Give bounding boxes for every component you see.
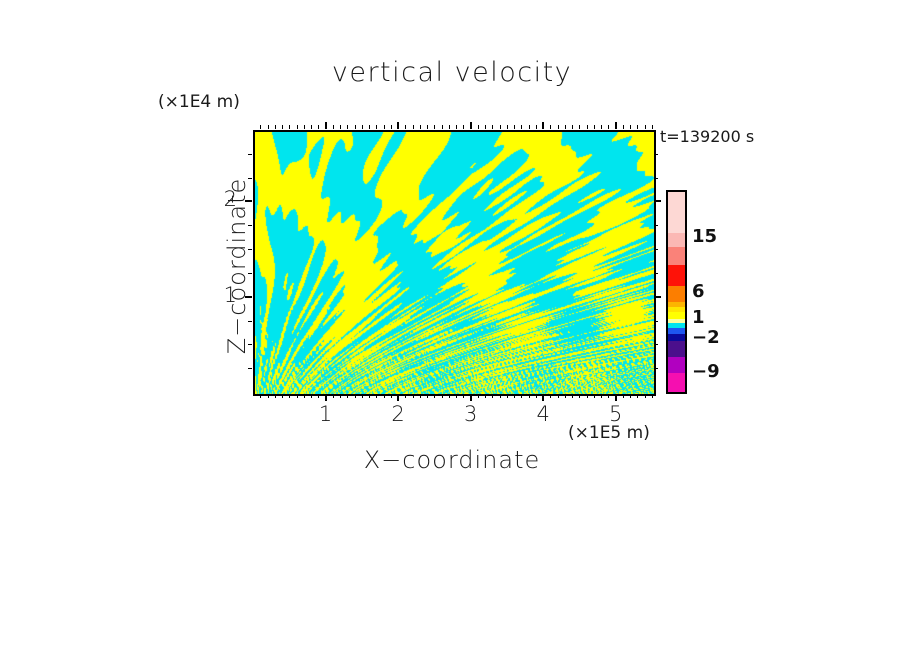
- x-tick-minor: [434, 394, 435, 398]
- x-tick-minor-top: [594, 125, 595, 129]
- x-tick-minor: [507, 394, 508, 398]
- x-tick-minor-top: [282, 125, 283, 129]
- x-tick-major: [325, 394, 327, 401]
- x-tick-minor: [333, 394, 334, 398]
- x-tick-minor-top: [587, 125, 588, 129]
- y-tick-minor-right: [654, 154, 658, 155]
- x-tick-minor: [623, 394, 624, 398]
- x-tick-minor-top: [500, 125, 501, 129]
- x-tick-minor: [637, 394, 638, 398]
- colorbar-band: [668, 247, 685, 265]
- x-tick-minor-top: [456, 125, 457, 129]
- y-tick-minor: [248, 154, 252, 155]
- x-tick-minor-top: [601, 125, 602, 129]
- x-tick-minor-top: [376, 125, 377, 129]
- x-tick-major-top: [542, 122, 544, 129]
- x-tick-minor: [289, 394, 290, 398]
- x-tick-minor-top: [384, 125, 385, 129]
- y-tick-major-right: [654, 200, 661, 202]
- x-tick-major: [542, 394, 544, 401]
- x-tick-minor-top: [304, 125, 305, 129]
- y-axis-unit-label: (×1E4 m): [158, 92, 240, 112]
- x-tick-minor-top: [579, 125, 580, 129]
- x-tick-minor: [630, 394, 631, 398]
- x-tick-minor: [536, 394, 537, 398]
- y-tick-minor-right: [654, 178, 658, 179]
- colorbar-band: [668, 233, 685, 248]
- x-tick-minor: [492, 394, 493, 398]
- x-tick-minor: [297, 394, 298, 398]
- x-tick-minor: [304, 394, 305, 398]
- colorbar-band: [668, 341, 685, 358]
- x-tick-minor: [355, 394, 356, 398]
- x-tick-major-top: [397, 122, 399, 129]
- x-tick-minor-top: [630, 125, 631, 129]
- x-tick-minor-top: [529, 125, 530, 129]
- x-tick-minor: [608, 394, 609, 398]
- x-tick-minor: [485, 394, 486, 398]
- x-axis-unit-label: (×1E5 m): [568, 423, 650, 443]
- y-tick-minor: [248, 273, 252, 274]
- x-tick-minor-top: [558, 125, 559, 129]
- y-tick-minor: [248, 225, 252, 226]
- x-tick-minor: [550, 394, 551, 398]
- page-title: vertical velocity: [0, 57, 904, 88]
- x-tick-minor: [391, 394, 392, 398]
- x-tick-minor: [587, 394, 588, 398]
- x-tick-minor: [275, 394, 276, 398]
- x-tick-minor: [565, 394, 566, 398]
- x-tick-minor-top: [413, 125, 414, 129]
- y-tick-minor-right: [654, 344, 658, 345]
- x-tick-major-top: [470, 122, 472, 129]
- x-tick-minor: [558, 394, 559, 398]
- x-axis-title: X−coordinate: [0, 446, 904, 474]
- y-tick-major: [245, 200, 252, 202]
- x-tick-minor: [478, 394, 479, 398]
- colorbar-band: [668, 265, 685, 287]
- x-tick-minor: [427, 394, 428, 398]
- x-tick-minor-top: [521, 125, 522, 129]
- x-tick-minor-top: [652, 125, 653, 129]
- x-tick-label: 2: [378, 402, 418, 426]
- x-tick-minor: [521, 394, 522, 398]
- x-tick-minor: [282, 394, 283, 398]
- colorbar-tick-label: −9: [692, 361, 720, 382]
- y-tick-minor-right: [654, 225, 658, 226]
- x-tick-minor-top: [565, 125, 566, 129]
- plot-area: [253, 130, 656, 396]
- x-tick-minor: [579, 394, 580, 398]
- colorbar-tick-label: −2: [692, 327, 720, 348]
- x-tick-minor-top: [318, 125, 319, 129]
- colorbar-tick-label: 15: [692, 226, 717, 247]
- x-tick-minor-top: [536, 125, 537, 129]
- x-tick-major: [470, 394, 472, 401]
- x-tick-minor: [420, 394, 421, 398]
- colorbar-band: [668, 192, 685, 233]
- x-tick-minor-top: [449, 125, 450, 129]
- y-tick-minor: [248, 178, 252, 179]
- x-tick-minor-top: [637, 125, 638, 129]
- y-tick-minor: [248, 249, 252, 250]
- figure-canvas: vertical velocity (×1E4 m) t=139200 s Z−…: [0, 0, 904, 654]
- x-tick-minor: [405, 394, 406, 398]
- x-tick-major: [397, 394, 399, 401]
- x-tick-minor: [384, 394, 385, 398]
- x-tick-minor: [318, 394, 319, 398]
- x-tick-minor-top: [434, 125, 435, 129]
- x-tick-major-top: [325, 122, 327, 129]
- x-tick-minor-top: [550, 125, 551, 129]
- x-tick-minor: [311, 394, 312, 398]
- colorbar-band: [668, 286, 685, 303]
- x-tick-minor-top: [268, 125, 269, 129]
- x-tick-minor: [514, 394, 515, 398]
- y-tick-label: 1: [197, 283, 237, 307]
- x-tick-minor: [413, 394, 414, 398]
- x-tick-minor-top: [485, 125, 486, 129]
- colorbar-tick-label: 6: [692, 281, 705, 302]
- x-tick-minor: [456, 394, 457, 398]
- x-tick-minor-top: [572, 125, 573, 129]
- x-tick-minor: [645, 394, 646, 398]
- y-tick-minor-right: [654, 321, 658, 322]
- x-tick-minor-top: [405, 125, 406, 129]
- y-tick-minor: [248, 344, 252, 345]
- x-tick-minor-top: [340, 125, 341, 129]
- x-tick-minor-top: [608, 125, 609, 129]
- x-tick-minor-top: [260, 125, 261, 129]
- x-tick-minor-top: [514, 125, 515, 129]
- x-tick-minor-top: [463, 125, 464, 129]
- x-tick-minor: [463, 394, 464, 398]
- x-tick-minor-top: [645, 125, 646, 129]
- x-tick-minor-top: [492, 125, 493, 129]
- x-tick-minor: [594, 394, 595, 398]
- x-tick-minor: [529, 394, 530, 398]
- y-tick-minor: [248, 368, 252, 369]
- x-tick-label: 3: [451, 402, 491, 426]
- x-tick-minor: [601, 394, 602, 398]
- time-annotation: t=139200 s: [660, 127, 754, 146]
- y-tick-major-right: [654, 296, 661, 298]
- x-tick-minor: [572, 394, 573, 398]
- colorbar: [666, 190, 687, 394]
- x-tick-minor-top: [275, 125, 276, 129]
- x-tick-minor-top: [478, 125, 479, 129]
- x-tick-minor: [442, 394, 443, 398]
- x-tick-minor-top: [362, 125, 363, 129]
- y-tick-minor-right: [654, 273, 658, 274]
- x-tick-major: [615, 394, 617, 401]
- x-tick-minor: [268, 394, 269, 398]
- x-tick-minor: [376, 394, 377, 398]
- x-tick-minor-top: [355, 125, 356, 129]
- x-tick-minor-top: [297, 125, 298, 129]
- x-tick-major-top: [615, 122, 617, 129]
- x-tick-minor: [449, 394, 450, 398]
- x-tick-minor-top: [442, 125, 443, 129]
- y-tick-minor-right: [654, 249, 658, 250]
- x-tick-minor-top: [507, 125, 508, 129]
- colorbar-band: [668, 357, 685, 374]
- y-tick-minor: [248, 321, 252, 322]
- x-tick-minor: [347, 394, 348, 398]
- x-tick-minor-top: [369, 125, 370, 129]
- colorbar-band: [668, 373, 685, 392]
- y-tick-minor-right: [654, 368, 658, 369]
- x-tick-minor-top: [347, 125, 348, 129]
- x-tick-minor-top: [289, 125, 290, 129]
- colorbar-tick-label: 1: [692, 307, 705, 328]
- x-tick-label: 4: [523, 402, 563, 426]
- x-tick-minor-top: [333, 125, 334, 129]
- x-tick-minor: [500, 394, 501, 398]
- x-tick-minor-top: [420, 125, 421, 129]
- x-tick-minor: [340, 394, 341, 398]
- x-tick-minor: [652, 394, 653, 398]
- y-tick-major: [245, 296, 252, 298]
- x-tick-minor: [362, 394, 363, 398]
- x-tick-minor-top: [427, 125, 428, 129]
- x-tick-minor-top: [623, 125, 624, 129]
- x-tick-minor: [369, 394, 370, 398]
- x-tick-minor-top: [391, 125, 392, 129]
- y-tick-label: 2: [197, 187, 237, 211]
- velocity-field-heatmap: [255, 132, 654, 394]
- x-tick-minor: [260, 394, 261, 398]
- x-tick-minor-top: [311, 125, 312, 129]
- x-tick-label: 1: [306, 402, 346, 426]
